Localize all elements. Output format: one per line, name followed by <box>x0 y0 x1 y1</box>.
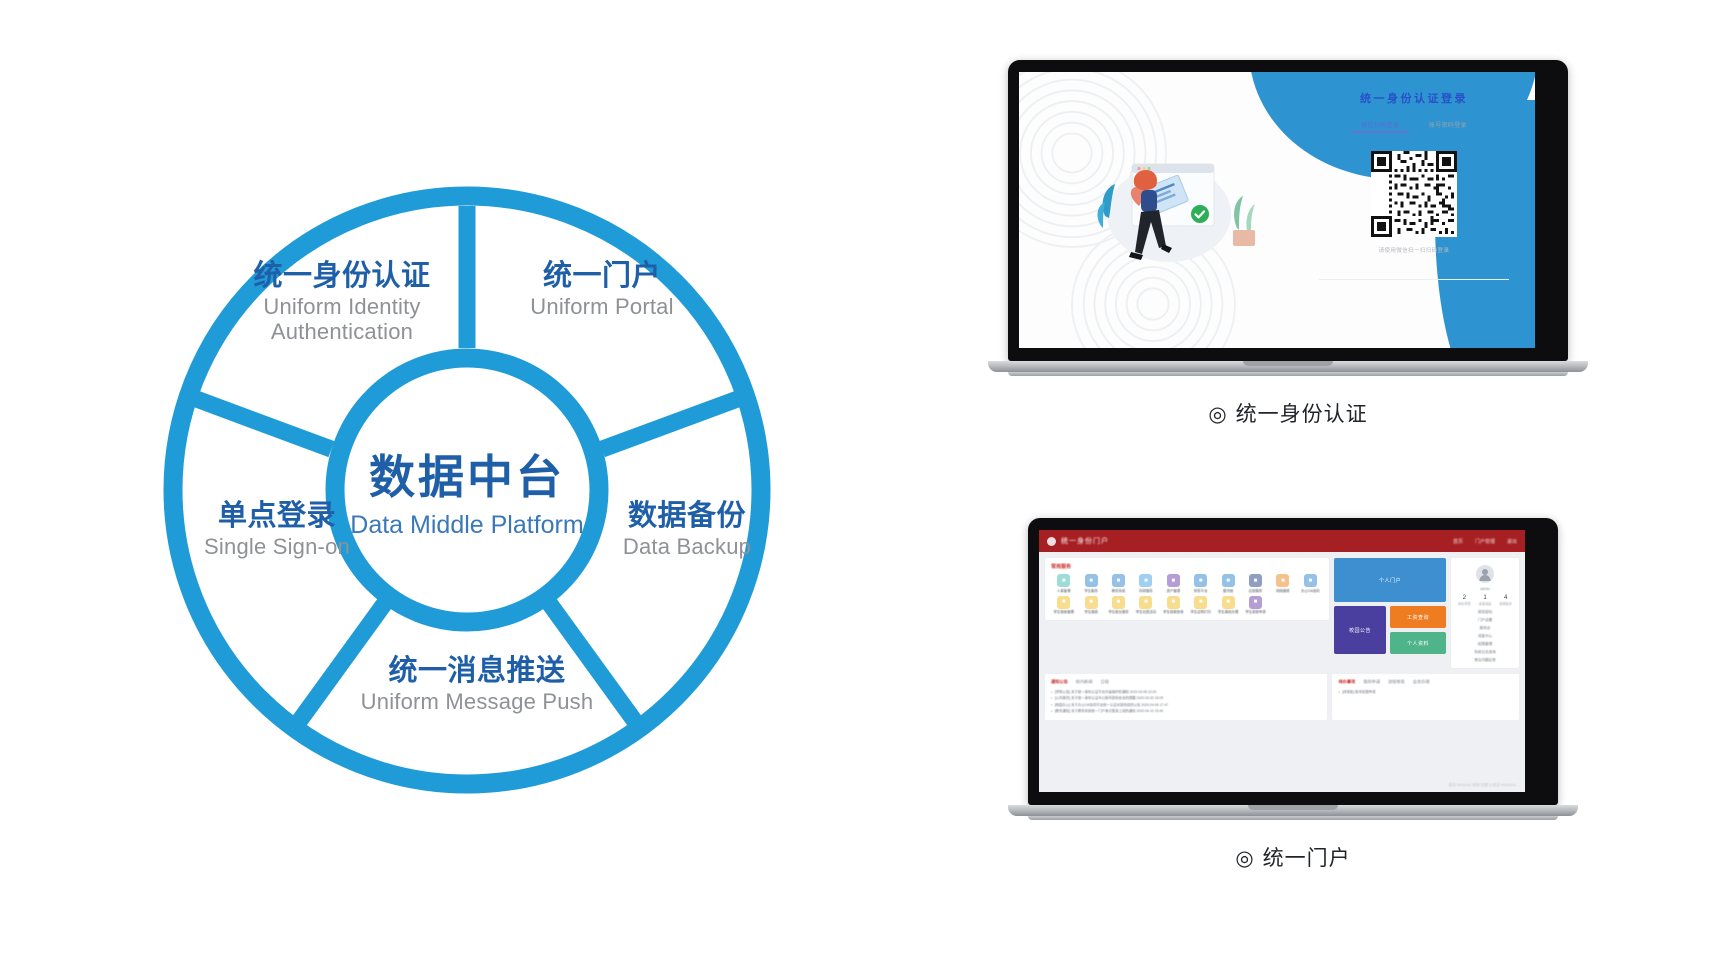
app-cell[interactable]: ■学生宿舍管理 <box>1051 596 1076 615</box>
app-cell[interactable]: ■办公OA协同 <box>1298 574 1323 593</box>
app-cell[interactable]: ■学生奖助申请 <box>1243 596 1268 615</box>
app-name: 后勤服务 <box>1243 589 1268 593</box>
profile-stats: 2 待办事项 1 未读消息 4 待审批件 <box>1454 595 1516 606</box>
portal-tiles-column: 个人门户 校园公告 工资查询 个人资料 <box>1334 558 1446 668</box>
caption-text: 统一门户 <box>1263 847 1351 870</box>
app-name: 学生宿舍管理 <box>1051 610 1076 614</box>
notice-list: ▸[学院公告] 关于统一身份认证平台升级维护的通知 2020-04-08 10:… <box>1051 689 1321 715</box>
app-name: 学生离校办理 <box>1215 610 1240 614</box>
app-cell[interactable]: ■学生证明打印 <box>1188 596 1213 615</box>
qr-code-icon[interactable] <box>1371 151 1457 237</box>
app-name: 图书馆 <box>1215 589 1240 593</box>
check-circle-icon <box>1191 205 1209 223</box>
tab-approval[interactable]: 流程审批 <box>1388 679 1405 685</box>
app-cell[interactable]: ■学生社团活动 <box>1133 596 1158 615</box>
bullet-marker-icon: ◎ <box>1235 847 1254 870</box>
login-tab-list: 微信扫码登录 账号密码登录 <box>1319 120 1509 137</box>
profile-link[interactable]: 门户设置 <box>1454 618 1516 623</box>
profile-link[interactable]: 消息中心 <box>1454 634 1516 639</box>
common-services-card: 常用服务 ■人事管理■学生服务■教务系统■科研服务■资产管理■财务平台■图书馆■… <box>1045 558 1329 620</box>
login-title: 统一身份认证登录 <box>1319 90 1509 106</box>
diagram-canvas: 统一身份认证 Uniform Identity Authentication 统… <box>0 0 1728 953</box>
todo-item[interactable]: ▸[待审批] 账号权限申请 <box>1338 689 1513 695</box>
app-cell[interactable]: ■科研服务 <box>1133 574 1158 593</box>
tab-business[interactable]: 业务办理 <box>1413 679 1430 685</box>
nav-item-home[interactable]: 首页 <box>1453 538 1463 545</box>
stat-unread[interactable]: 1 未读消息 <box>1479 595 1492 606</box>
app-name: 资产管理 <box>1161 589 1186 593</box>
caption-identity-auth: ◎统一身份认证 <box>1008 398 1568 428</box>
app-cell[interactable]: ■财务平台 <box>1188 574 1213 593</box>
tab-schedule[interactable]: 日程 <box>1101 679 1109 685</box>
bullet-icon: ▸ <box>1051 696 1053 700</box>
briefcase-icon: ■ <box>1112 596 1125 609</box>
nav-item-manage[interactable]: 门户管理 <box>1475 538 1495 545</box>
laptop-lid: 统一身份门户 首页 门户管理 退出 常用服务 ■ <box>1028 518 1558 805</box>
app-name: 学生证明打印 <box>1188 610 1213 614</box>
bullet-icon: ▸ <box>1338 690 1340 694</box>
school-crest-icon <box>1047 537 1056 546</box>
laptop-foot <box>1008 372 1568 376</box>
tile-salary-query[interactable]: 工资查询 <box>1390 606 1446 628</box>
app-cell[interactable]: ■后勤服务 <box>1243 574 1268 593</box>
wrench-icon: ■ <box>1276 574 1289 587</box>
bullet-icon: ▸ <box>1051 703 1053 707</box>
laptop-lid: 统一身份认证登录 微信扫码登录 账号密码登录 <box>1008 60 1568 361</box>
app-name: 教务系统 <box>1106 589 1131 593</box>
coin-icon: ■ <box>1194 574 1207 587</box>
document-icon: ■ <box>1304 574 1317 587</box>
exit-icon: ■ <box>1222 596 1235 609</box>
printer-icon: ■ <box>1194 596 1207 609</box>
bullet-icon: ▸ <box>1051 690 1053 694</box>
stat-todo[interactable]: 2 待办事项 <box>1458 595 1471 606</box>
laptop-mockup-identity-auth: 统一身份认证登录 微信扫码登录 账号密码登录 <box>1008 60 1568 428</box>
tab-notice[interactable]: 通知公告 <box>1051 679 1068 685</box>
portal-dashboard: 统一身份门户 首页 门户管理 退出 常用服务 ■ <box>1039 530 1525 792</box>
laptop-screen: 统一身份认证登录 微信扫码登录 账号密码登录 <box>1019 72 1535 348</box>
app-name: 学生奖助申请 <box>1243 610 1268 614</box>
bullet-marker-icon: ◎ <box>1208 403 1227 426</box>
tab-my-apply[interactable]: 我的申请 <box>1363 679 1380 685</box>
app-cell[interactable]: ■人事管理 <box>1051 574 1076 593</box>
todo-card: 待办事项 我的申请 流程审批 业务办理 ▸[待审批] 账号权限申请 <box>1332 674 1519 720</box>
tools-icon: ■ <box>1249 574 1262 587</box>
caption-text: 统一身份认证 <box>1236 403 1368 426</box>
hub-cn-title: 数据中台 <box>369 441 565 507</box>
portal-header: 统一身份门户 首页 门户管理 退出 <box>1039 530 1525 552</box>
app-cell[interactable]: ■资产管理 <box>1161 574 1186 593</box>
notice-item[interactable]: ▸[教务通知] 关于教务系统统一门户单点登录上线的通知 2020-04-10 1… <box>1051 708 1321 714</box>
portal-logo-text: 统一身份门户 <box>1061 536 1109 546</box>
tile-campus-notice[interactable]: 校园公告 <box>1334 606 1386 654</box>
qr-login-hint: 请使用微信扫一扫扫码登录 <box>1319 246 1509 254</box>
nav-item-logout[interactable]: 退出 <box>1507 538 1517 545</box>
app-cell[interactable]: ■学生服务 <box>1078 574 1103 593</box>
tile-personal-portal[interactable]: 个人门户 <box>1334 558 1446 602</box>
laptop-foot <box>1028 816 1558 820</box>
notice-card: 通知公告 校内新闻 日程 ▸[学院公告] 关于统一身份认证平台升级维护的通知 2… <box>1045 674 1327 720</box>
app-name: 学生社团活动 <box>1133 610 1158 614</box>
notice-tab-list: 通知公告 校内新闻 日程 <box>1051 679 1321 685</box>
bed-icon: ■ <box>1057 596 1070 609</box>
laptop-mockup-portal: 统一身份门户 首页 门户管理 退出 常用服务 ■ <box>1028 518 1558 872</box>
bullet-icon: ▸ <box>1051 709 1053 713</box>
app-name: 人事管理 <box>1051 589 1076 593</box>
portal-apps-column: 常用服务 ■人事管理■学生服务■教务系统■科研服务■资产管理■财务平台■图书馆■… <box>1045 558 1329 668</box>
app-cell[interactable]: ■学生就业服务 <box>1106 596 1131 615</box>
tab-wechat-qr-login[interactable]: 微信扫码登录 <box>1357 120 1403 133</box>
tile-personal-profile[interactable]: 个人资料 <box>1390 632 1446 654</box>
app-name: 办公OA协同 <box>1298 589 1323 593</box>
folder-icon: ■ <box>1167 596 1180 609</box>
app-cell[interactable]: ■学生档案查询 <box>1161 596 1186 615</box>
data-middle-platform-donut: 统一身份认证 Uniform Identity Authentication 统… <box>152 175 782 805</box>
profile-link[interactable]: 权限管理 <box>1454 642 1516 647</box>
card-icon: ■ <box>1085 596 1098 609</box>
app-cell[interactable]: ■学生离校办理 <box>1215 596 1240 615</box>
tab-account-password-login[interactable]: 账号密码登录 <box>1425 120 1471 133</box>
app-name: 学生缴费 <box>1078 610 1103 614</box>
app-name: 学生档案查询 <box>1161 610 1186 614</box>
app-name: 财务平台 <box>1188 589 1213 593</box>
user-avatar-icon[interactable] <box>1476 565 1494 583</box>
todo-list: ▸[待审批] 账号权限申请 <box>1338 689 1513 695</box>
hub-en-title: Data Middle Platform <box>350 511 583 540</box>
app-cell[interactable]: ■教务系统 <box>1106 574 1131 593</box>
app-name: 科研服务 <box>1133 589 1158 593</box>
app-cell[interactable]: ■网络报修 <box>1270 574 1295 593</box>
award-icon: ■ <box>1249 596 1262 609</box>
laptop-base <box>1008 805 1578 816</box>
profile-link[interactable]: 常见问题反馈 <box>1454 658 1516 663</box>
profile-link-list: 修改密码门户设置服务台消息中心权限管理系统日志查询常见问题反馈 <box>1454 610 1516 663</box>
login-page: 统一身份认证登录 微信扫码登录 账号密码登录 <box>1019 72 1535 348</box>
portal-lower-row: 通知公告 校内新闻 日程 ▸[学院公告] 关于统一身份认证平台升级维护的通知 2… <box>1039 674 1525 726</box>
caption-portal: ◎统一门户 <box>1028 842 1558 872</box>
windows-activation-watermark: 激活 Windows 转到“设置”以激活 Windows。 <box>1449 783 1519 788</box>
login-panel: 统一身份认证登录 微信扫码登录 账号密码登录 <box>1319 90 1509 254</box>
laptop-screen: 统一身份门户 首页 门户管理 退出 常用服务 ■ <box>1039 530 1525 792</box>
box-icon: ■ <box>1167 574 1180 587</box>
todo-tab-list: 待办事项 我的申请 流程审批 业务办理 <box>1338 679 1513 685</box>
tab-todo[interactable]: 待办事项 <box>1338 679 1355 685</box>
student-icon: ■ <box>1085 574 1098 587</box>
app-name: 学生就业服务 <box>1106 610 1131 614</box>
library-icon: ■ <box>1222 574 1235 587</box>
tile-row: 校园公告 工资查询 个人资料 <box>1334 606 1446 654</box>
login-panel-divider <box>1319 279 1509 280</box>
app-cell[interactable]: ■学生缴费 <box>1078 596 1103 615</box>
profile-username: admin <box>1454 587 1516 591</box>
profile-link[interactable]: 系统日志查询 <box>1454 650 1516 655</box>
profile-link[interactable]: 修改密码 <box>1454 610 1516 615</box>
app-icon-grid: ■人事管理■学生服务■教务系统■科研服务■资产管理■财务平台■图书馆■后勤服务■… <box>1051 574 1323 615</box>
donut-hub: 数据中台 Data Middle Platform <box>337 360 597 620</box>
stat-approval[interactable]: 4 待审批件 <box>1499 595 1512 606</box>
card-title: 常用服务 <box>1051 563 1323 570</box>
people-icon: ■ <box>1057 574 1070 587</box>
portal-nav: 首页 门户管理 退出 <box>1453 538 1517 545</box>
tab-campus-news[interactable]: 校内新闻 <box>1076 679 1093 685</box>
profile-link[interactable]: 服务台 <box>1454 626 1516 631</box>
app-name: 网络报修 <box>1270 589 1295 593</box>
portal-profile-card: admin 2 待办事项 1 未读消息 <box>1451 558 1519 668</box>
portal-body: 常用服务 ■人事管理■学生服务■教务系统■科研服务■资产管理■财务平台■图书馆■… <box>1039 552 1525 674</box>
laptop-base <box>988 361 1588 372</box>
flask-icon: ■ <box>1139 574 1152 587</box>
book-icon: ■ <box>1112 574 1125 587</box>
app-name: 学生服务 <box>1078 589 1103 593</box>
app-cell[interactable]: ■图书馆 <box>1215 574 1240 593</box>
person-with-document-illustration <box>1077 144 1267 274</box>
tile-stack: 工资查询 个人资料 <box>1390 606 1446 654</box>
flag-icon: ■ <box>1139 596 1152 609</box>
